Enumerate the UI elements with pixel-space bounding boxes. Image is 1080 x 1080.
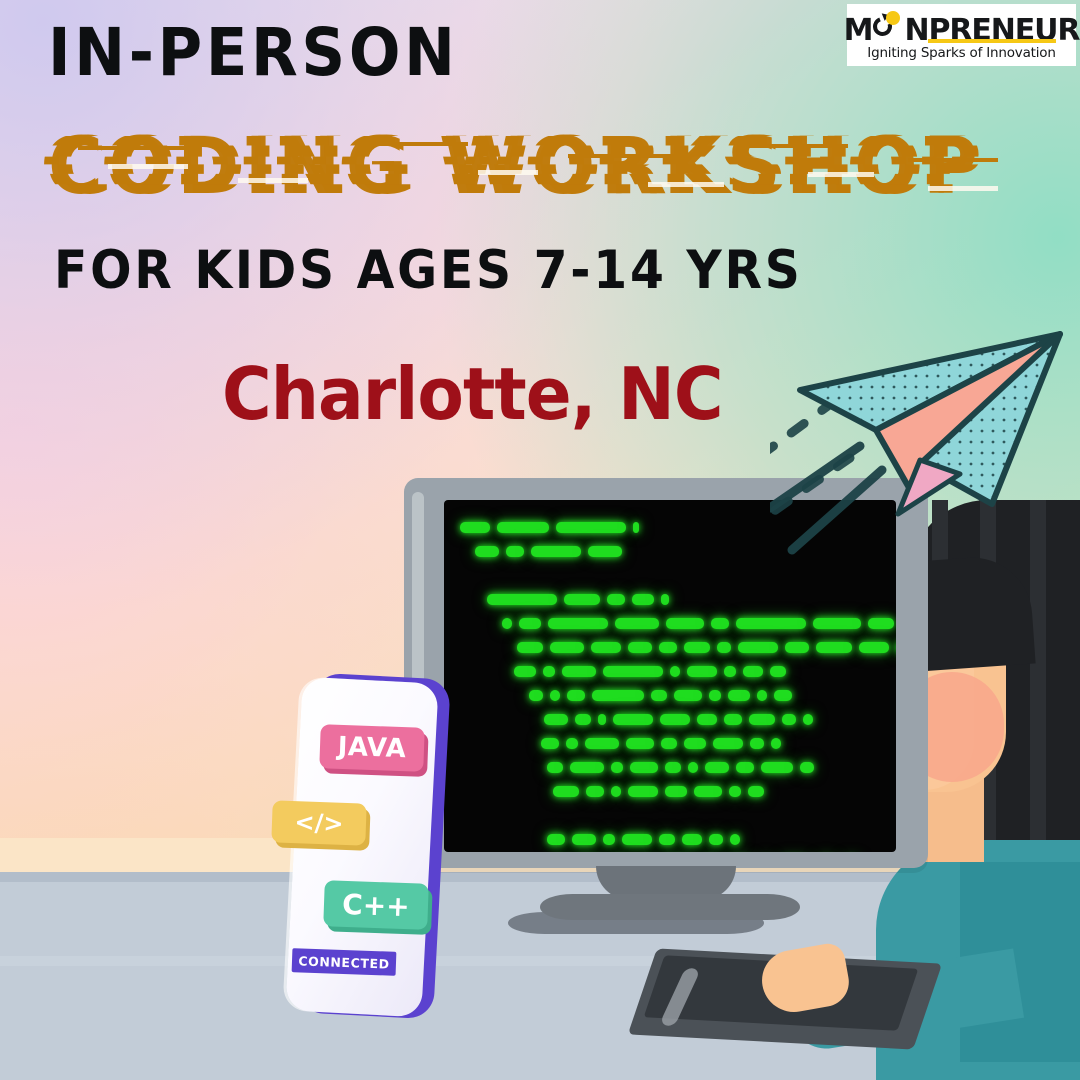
code-token [622,834,652,845]
code-token [575,714,591,725]
code-line [475,546,629,557]
code-token [497,522,549,533]
code-token [519,618,541,629]
code-token [659,834,675,845]
code-token [803,714,813,725]
monitor-stand-base [540,894,800,920]
code-line [502,618,896,629]
code-token [660,714,690,725]
code-token [611,786,621,797]
code-token [770,666,786,677]
code-token [531,546,581,557]
code-token [541,738,559,749]
code-token [613,714,653,725]
glitch-streak [78,146,198,150]
code-token [736,762,754,773]
code-token [736,618,806,629]
glitch-streak [928,186,998,191]
code-token [674,690,702,701]
code-token [564,594,600,605]
code-token [774,690,792,701]
code-token [592,690,644,701]
code-token [547,762,563,773]
code-line [487,594,676,605]
code-token [607,594,625,605]
code-line [553,786,771,797]
code-token [730,834,740,845]
code-token [785,642,809,653]
code-token [626,738,654,749]
glitch-streak [908,158,998,162]
code-token [694,786,722,797]
code-token [603,666,663,677]
code-token [567,690,585,701]
moon-dot-icon [886,11,900,25]
code-token [628,786,658,797]
glitch-streak [648,182,724,187]
code-token [717,642,731,653]
code-token [517,642,543,653]
code-token [711,618,729,629]
code-token [460,522,490,533]
code-token [548,618,608,629]
code-line [514,666,793,677]
code-token [713,738,743,749]
glitch-streak [378,142,468,146]
headline-in-person: IN-PERSON [48,17,459,89]
code-line [547,834,747,845]
code-token [684,642,710,653]
logo-wordmark: M NPRENEUR [844,10,1080,40]
headline-ages: FOR KIDS AGES 7-14 YRS [54,240,803,302]
code-token [750,738,764,749]
code-token [771,738,781,749]
code-token [661,594,669,605]
code-token [588,546,622,557]
code-token [506,546,524,557]
code-token [729,786,741,797]
code-token [682,834,702,845]
code-token [728,690,750,701]
code-token [709,690,721,701]
code-token [615,618,659,629]
poster-canvas: M NPRENEUR Igniting Sparks of Innovation… [0,0,1080,1080]
code-token [475,546,499,557]
code-token [688,762,698,773]
code-token [591,642,621,653]
glitch-streak [478,170,538,175]
status-badge: CONNECTED [292,948,397,976]
code-token [670,666,680,677]
code-token [630,762,658,773]
smartphone-icon[interactable]: JAVA </> C++ CONNECTED [276,672,456,1022]
glitch-streak [238,178,308,183]
code-token [628,642,652,653]
code-token [743,666,763,677]
code-token [816,642,852,653]
location-text: Charlotte, NC [222,352,723,436]
code-token [661,738,677,749]
code-token [684,738,706,749]
badge-cpp[interactable]: C++ [323,880,429,930]
code-brackets-icon[interactable]: </> [271,800,366,845]
code-token [544,714,568,725]
code-token [543,666,555,677]
code-token [570,762,604,773]
code-token [562,666,596,677]
code-token [651,690,667,701]
code-token [529,690,543,701]
moonpreneur-logo[interactable]: M NPRENEUR Igniting Sparks of Innovation [847,4,1076,66]
badge-java[interactable]: JAVA [319,724,424,772]
code-token [585,738,619,749]
logo-oo-glyph [872,10,897,40]
code-line [541,738,788,749]
code-token [603,834,615,845]
code-token [738,642,778,653]
code-token [550,690,560,701]
glitch-streak [748,144,848,148]
code-token [665,762,681,773]
logo-underline [928,39,1056,43]
paper-airplane-icon [770,318,1080,568]
code-token [598,714,606,725]
code-token [761,762,793,773]
code-token [859,642,889,653]
code-token [724,714,742,725]
code-token [553,786,579,797]
code-token [709,834,723,845]
code-token [556,522,626,533]
code-token [487,594,557,605]
code-token [813,618,861,629]
glitch-streak [568,154,678,158]
code-token [514,666,536,677]
code-token [748,786,764,797]
glitch-streak [808,172,874,177]
code-token [665,786,687,797]
code-token [632,594,654,605]
code-token [659,642,677,653]
code-token [611,762,623,773]
code-token [502,618,512,629]
code-token [800,762,814,773]
code-token [687,666,717,677]
code-line [517,642,896,653]
code-line [544,714,820,725]
code-line [547,762,821,773]
code-token [547,834,565,845]
code-token [757,690,767,701]
code-token [868,618,894,629]
code-token [697,714,717,725]
code-token [566,738,578,749]
code-token [666,618,704,629]
logo-letter-m: M [844,16,873,46]
code-token [705,762,729,773]
glitch-streak [108,164,188,169]
code-token [782,714,796,725]
headline-coding-workshop: CODING WORKSHOP CODING WORKSHOP CODING W… [48,124,1038,210]
code-token [572,834,596,845]
code-line [529,690,799,701]
code-token [633,522,639,533]
code-token [749,714,775,725]
code-token [586,786,604,797]
code-token [724,666,736,677]
code-token [550,642,584,653]
code-line [460,522,646,533]
